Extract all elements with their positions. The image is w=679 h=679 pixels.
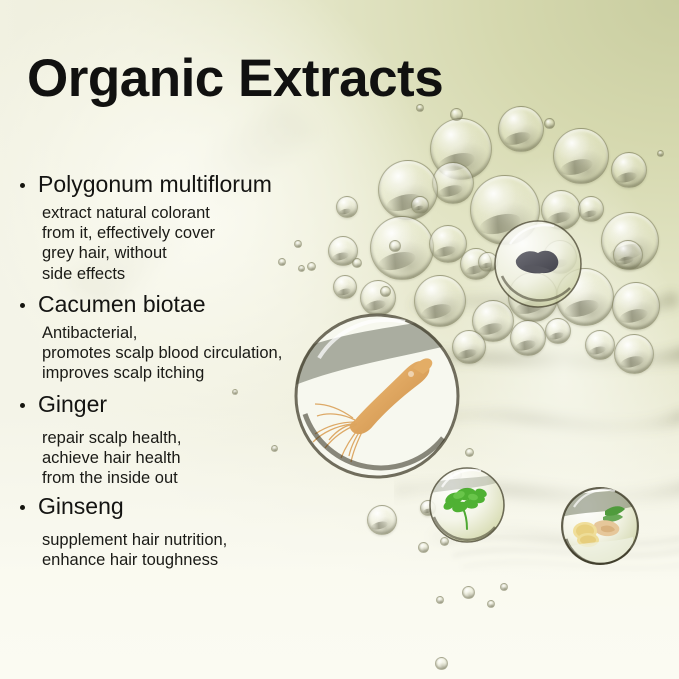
entry-heading: Ginger bbox=[0, 392, 330, 416]
entry-line: achieve hair health bbox=[42, 448, 330, 468]
entry-line: extract natural colorant bbox=[42, 203, 330, 223]
entry-description: supplement hair nutrition, enhance hair … bbox=[42, 530, 330, 570]
entry-line: repair scalp health, bbox=[42, 428, 330, 448]
entry-line: side effects bbox=[42, 264, 330, 284]
entry-name: Polygonum multiflorum bbox=[38, 171, 272, 197]
entry-line: Antibacterial, bbox=[42, 323, 330, 343]
bullet-icon bbox=[20, 183, 25, 188]
entry-line: grey hair, without bbox=[42, 243, 330, 263]
poster-canvas: Organic Extracts Polygonum multiflorum e… bbox=[0, 0, 679, 679]
entry-heading: Polygonum multiflorum bbox=[0, 172, 330, 196]
entry-polygonum-multiflorum: Polygonum multiflorum extract natural co… bbox=[0, 172, 330, 284]
entry-description: extract natural colorant from it, effect… bbox=[42, 203, 330, 284]
entry-name: Ginseng bbox=[38, 493, 124, 519]
entry-ginger: Ginger repair scalp health, achieve hair… bbox=[0, 392, 330, 489]
bullet-icon bbox=[20, 505, 25, 510]
entry-cacumen-biotae: Cacumen biotae Antibacterial, promotes s… bbox=[0, 292, 330, 384]
bullet-icon bbox=[20, 303, 25, 308]
entry-line: from the inside out bbox=[42, 468, 330, 488]
text-content: Organic Extracts Polygonum multiflorum e… bbox=[0, 0, 679, 679]
entry-line: enhance hair toughness bbox=[42, 550, 330, 570]
entry-description: repair scalp health, achieve hair health… bbox=[42, 428, 330, 488]
entry-line: promotes scalp blood circulation, bbox=[42, 343, 330, 363]
entry-line: improves scalp itching bbox=[42, 363, 330, 383]
entry-ginseng: Ginseng supplement hair nutrition, enhan… bbox=[0, 494, 330, 570]
entry-name: Cacumen biotae bbox=[38, 291, 206, 317]
entry-heading: Cacumen biotae bbox=[0, 292, 330, 316]
entry-description: Antibacterial, promotes scalp blood circ… bbox=[42, 323, 330, 383]
bullet-icon bbox=[20, 403, 25, 408]
page-title: Organic Extracts bbox=[27, 52, 443, 105]
entry-line: supplement hair nutrition, bbox=[42, 530, 330, 550]
entry-line: from it, effectively cover bbox=[42, 223, 330, 243]
entry-name: Ginger bbox=[38, 391, 107, 417]
entry-heading: Ginseng bbox=[0, 494, 330, 518]
